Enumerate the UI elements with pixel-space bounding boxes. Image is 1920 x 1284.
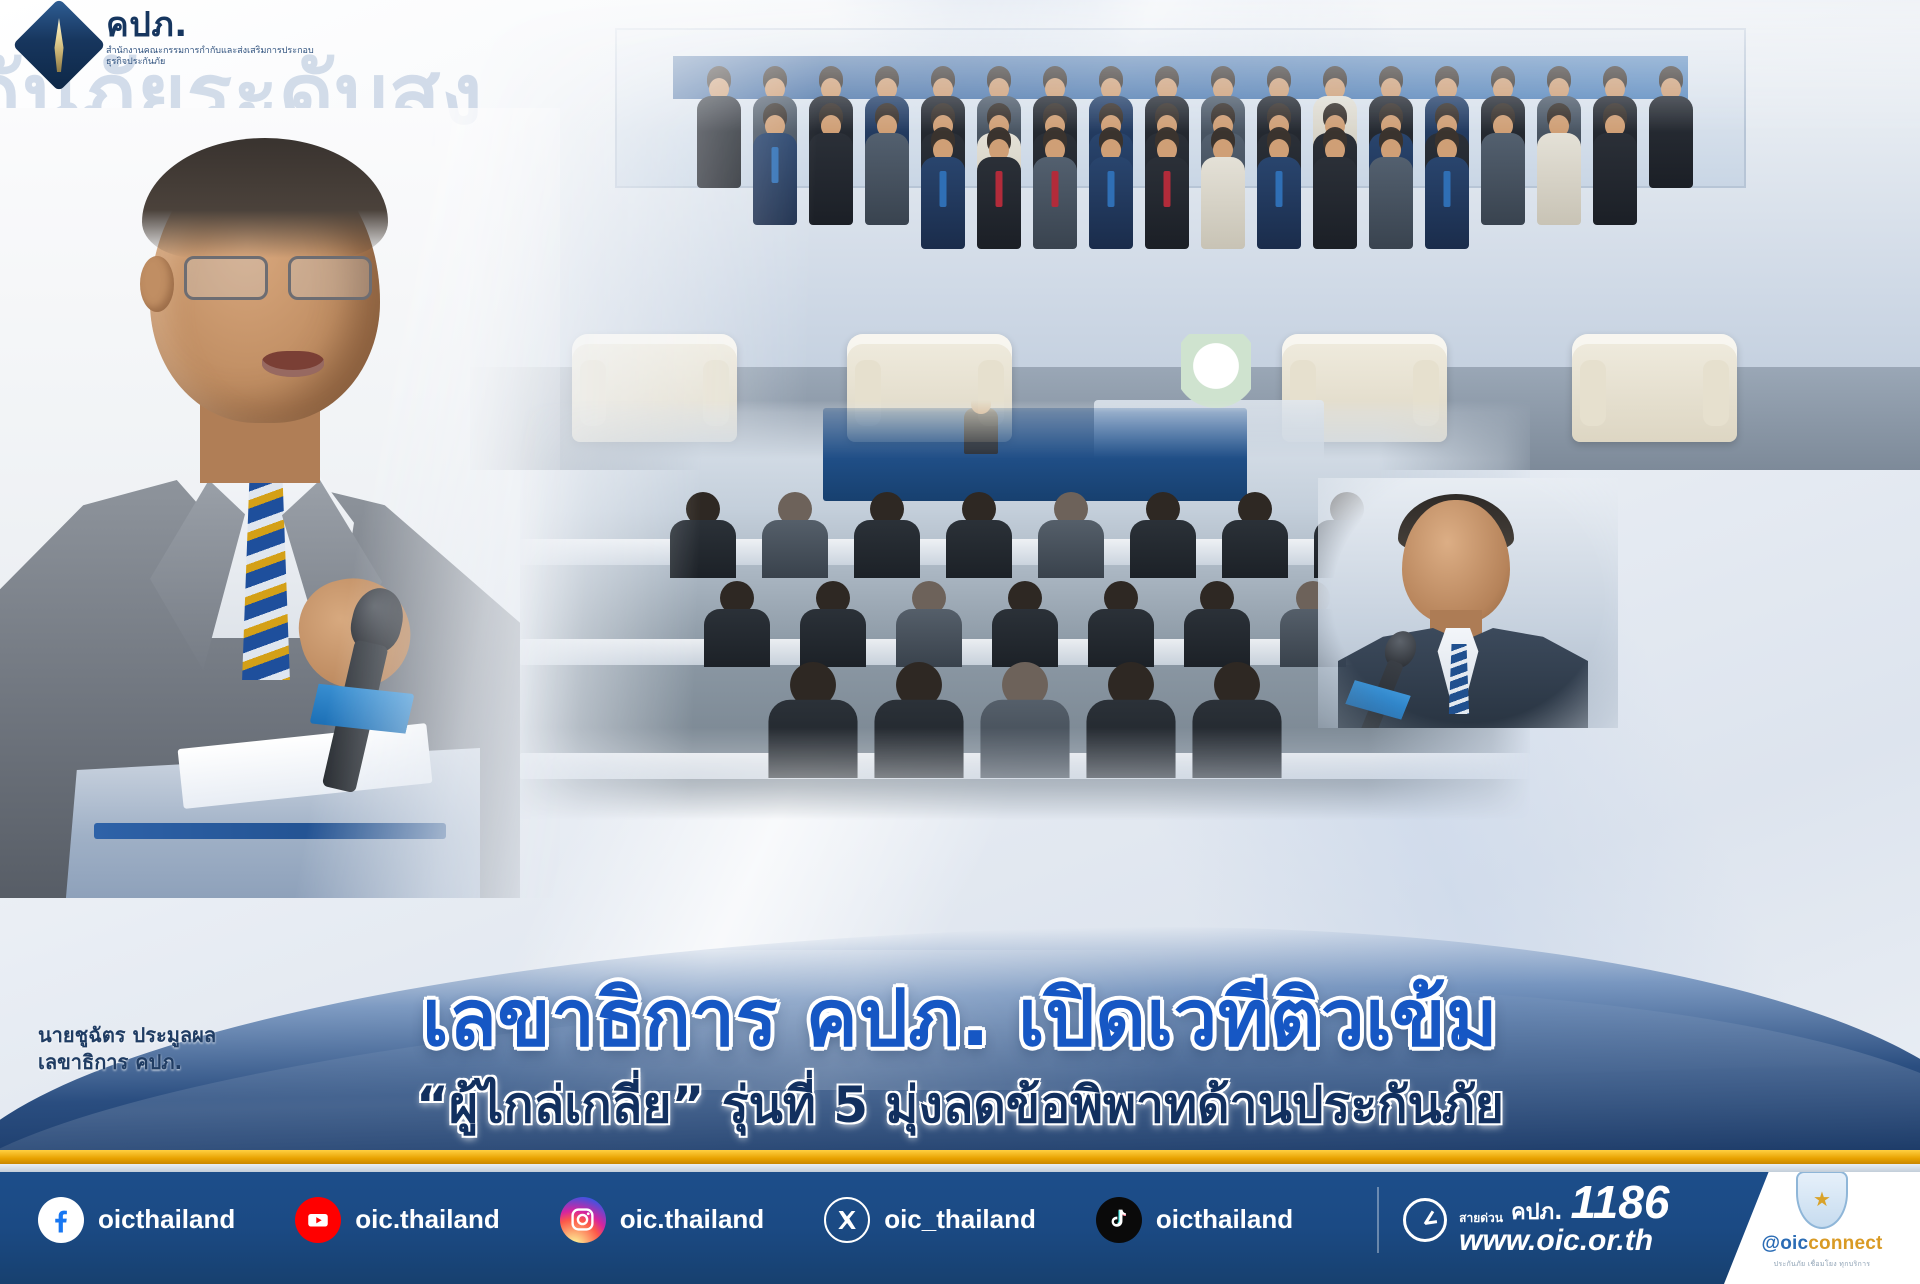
audience-person [1192,662,1281,778]
person-figure [1312,127,1358,249]
youtube-handle: oic.thailand [355,1204,499,1235]
oic-logo-abbrev: คปภ. [106,8,316,42]
oic-connect-part2: connect [1808,1233,1882,1254]
social-x[interactable]: oic_thailand [824,1197,1096,1243]
person-figure [920,127,966,249]
audience-person [946,492,1012,578]
headline-block: เลขาธิการ คปภ. เปิดเวทีติวเข้ม “ผู้ไกล่เ… [0,979,1920,1134]
instagram-icon [560,1197,606,1243]
portrait-mouth [262,351,324,377]
audience-person [1088,581,1154,667]
audience-person [1086,662,1175,778]
oic-logo-text: คปภ. สำนักงานคณะกรรมการกำกับและส่งเสริมก… [106,8,316,69]
person-figure [1256,127,1302,249]
group-photo-row-front [470,127,1920,249]
x-handle: oic_thailand [884,1204,1036,1235]
audience-person [762,492,828,578]
oic-diamond-icon [26,12,92,78]
oic-connect-name: @oicconnect [1761,1233,1882,1255]
social-instagram[interactable]: oic.thailand [560,1197,824,1243]
audience-person [670,492,736,578]
headline-primary: เลขาธิการ คปภ. เปิดเวทีติวเข้ม [0,979,1920,1061]
person-figure [1368,127,1414,249]
oic-connect-prefix: @ [1761,1233,1780,1254]
news-banner-canvas: กันภัยระดับสูง [0,0,1920,1284]
inset-necktie [1448,644,1470,714]
person-figure [1144,127,1190,249]
person-figure [1032,127,1078,249]
footer-bar: oicthailand oic.thailand [0,1156,1920,1284]
hotline-org: คปภ. [1511,1202,1563,1224]
person-figure [1424,127,1470,249]
shield-icon: ★ [1796,1171,1848,1229]
inset-speaker-photo [1318,478,1618,728]
person-figure [976,127,1022,249]
audience-person [874,662,963,778]
instagram-handle: oic.thailand [620,1204,764,1235]
stage-table [823,408,1247,500]
speaker-caption: นายชูฉัตร ประมูลผล เลขาธิการ คปภ. [38,1022,216,1076]
facebook-icon [38,1197,84,1243]
hotline-number: 1186 [1571,1182,1670,1223]
oic-logo: คปภ. สำนักงานคณะกรรมการกำกับและส่งเสริมก… [26,8,316,74]
oic-connect-logo[interactable]: ★ @oicconnect ประกันภัย เชื่อมโยง ทุกบริ… [1724,1156,1920,1284]
audience-person [800,581,866,667]
gold-divider-bar [0,1150,1920,1164]
speaker-title: เลขาธิการ คปภ. [38,1049,216,1076]
audience-person [1184,581,1250,667]
person-figure [1200,127,1246,249]
audience-person [854,492,920,578]
audience-person [992,581,1058,667]
youtube-icon [295,1197,341,1243]
hotline-block[interactable]: สายด่วน คปภ. 1186 www.oic.or.th [1403,1182,1695,1257]
social-facebook[interactable]: oicthailand [38,1197,295,1243]
audience-person [704,581,770,667]
tiktok-handle: oicthailand [1156,1204,1293,1235]
headline-secondary: “ผู้ไกล่เกลี่ย” รุ่นที่ 5 มุ่งลดข้อพิพาท… [0,1077,1920,1135]
oic-logo-subtitle: สำนักงานคณะกรรมการกำกับและส่งเสริมการประ… [106,46,316,69]
tiktok-icon [1096,1197,1142,1243]
footer-social-list: oicthailand oic.thailand [0,1182,1724,1257]
speaker-name: นายชูฉัตร ประมูลผล [38,1022,216,1049]
footer-divider [1377,1187,1379,1253]
inset-head [1402,500,1510,624]
social-youtube[interactable]: oic.thailand [295,1197,559,1243]
website-url: www.oic.or.th [1459,1224,1653,1257]
audience-person [1038,492,1104,578]
audience-person [980,662,1069,778]
x-icon [824,1197,870,1243]
eyeglasses-icon [176,256,372,296]
oic-connect-part1: oic [1780,1233,1808,1254]
speaker-portrait-photo [0,108,560,898]
audience-person [768,662,857,778]
phone-clock-icon [1403,1198,1447,1242]
social-tiktok[interactable]: oicthailand [1096,1197,1353,1243]
audience-person [896,581,962,667]
person-figure [1088,127,1134,249]
facebook-handle: oicthailand [98,1204,235,1235]
lobby-sofa [1572,334,1737,442]
oic-connect-tagline: ประกันภัย เชื่อมโยง ทุกบริการ [1774,1259,1871,1270]
audience-person [1222,492,1288,578]
portrait-ear [140,256,174,312]
hotline-label: สายด่วน [1459,1212,1503,1224]
audience-person [1130,492,1196,578]
hotline-text: สายด่วน คปภ. 1186 www.oic.or.th [1459,1182,1669,1257]
stage-speaker-figure [964,408,998,454]
